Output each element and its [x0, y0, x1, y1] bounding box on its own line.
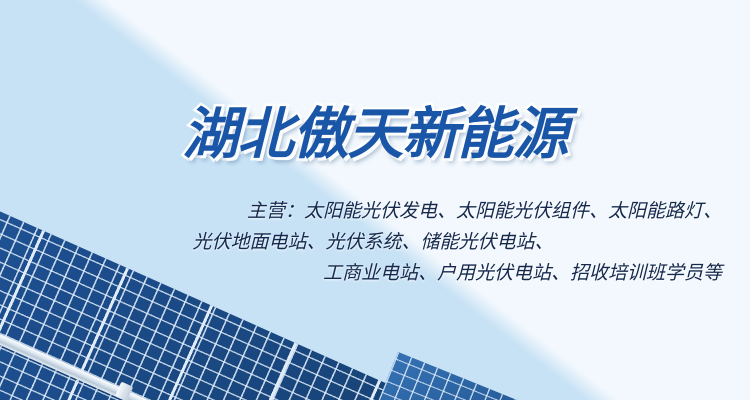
page-title: 湖北傲天新能源 [0, 106, 750, 165]
solar-company-banner: 湖北傲天新能源 主营：太阳能光伏发电、太阳能光伏组件、太阳能路灯、 光伏地面电站… [0, 0, 750, 400]
business-scope-line: 光伏地面电站、光伏系统、储能光伏电站、 [40, 227, 722, 258]
business-scope-line: 工商业电站、户用光伏电站、招收培训班学员等 [40, 258, 722, 289]
business-scope-line: 主营：太阳能光伏发电、太阳能光伏组件、太阳能路灯、 [40, 196, 722, 227]
business-scope-text: 主营：太阳能光伏发电、太阳能光伏组件、太阳能路灯、 光伏地面电站、光伏系统、储能… [40, 196, 722, 288]
